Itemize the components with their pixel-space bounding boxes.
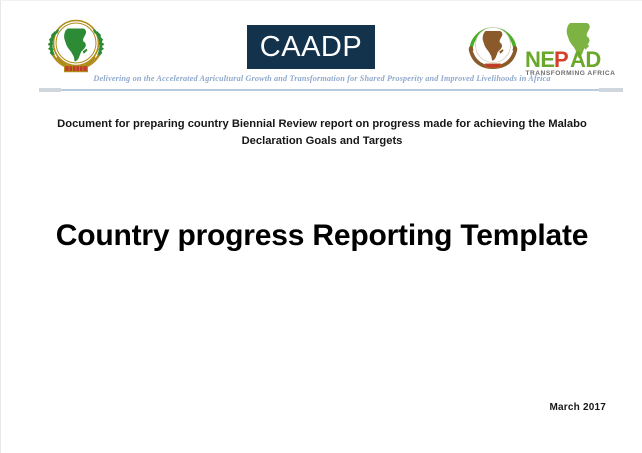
nepad-emblem-icon	[464, 17, 522, 75]
nepad-wordmark-icon: NE P AD TRANSFORMING AFRICA	[525, 21, 621, 77]
header-divider	[39, 89, 623, 91]
header-logo-band: CAADP	[1, 9, 642, 81]
page-title: Country progress Reporting Template	[1, 219, 642, 253]
svg-text:AD: AD	[570, 47, 601, 72]
svg-text:P: P	[554, 47, 568, 72]
caadp-wordmark-icon: CAADP	[247, 25, 375, 69]
header-divider-left-cap	[39, 88, 61, 92]
african-union-emblem-icon	[45, 15, 107, 77]
caadp-tagline: Delivering on the Accelerated Agricultur…	[1, 74, 642, 83]
caadp-label: CAADP	[260, 33, 362, 62]
header-divider-right-cap	[599, 88, 623, 92]
document-date: March 2017	[550, 402, 606, 413]
svg-text:NE: NE	[525, 47, 555, 72]
document-cover-page: CAADP	[0, 0, 642, 453]
document-subtitle: Document for preparing country Biennial …	[47, 116, 597, 151]
